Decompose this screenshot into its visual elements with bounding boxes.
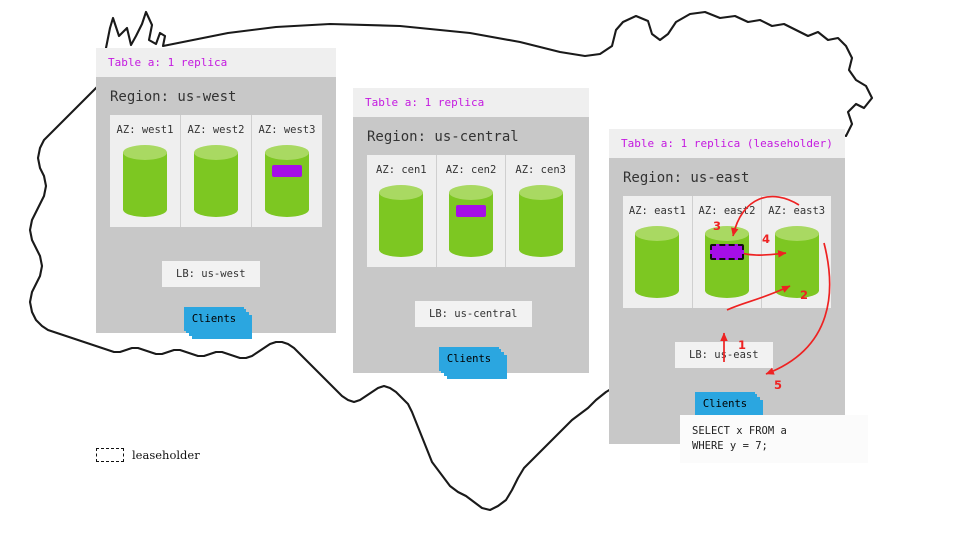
- clients-label: Clients: [184, 307, 244, 331]
- region-title-us-central: Table a: 1 replica: [353, 88, 589, 117]
- az-label: AZ: cen2: [446, 164, 497, 176]
- az-label: AZ: west1: [117, 124, 174, 136]
- node-cylinder-icon: [635, 226, 679, 298]
- az-label: AZ: east2: [699, 205, 756, 217]
- step-number-1: 1: [738, 338, 746, 352]
- node-cylinder-icon: [519, 185, 563, 257]
- load-balancer-us-central[interactable]: LB: us-central: [415, 301, 532, 327]
- node-cylinder-icon: [705, 226, 749, 298]
- node-cylinder-icon: [379, 185, 423, 257]
- clients-label: Clients: [695, 392, 755, 416]
- load-balancer-us-east[interactable]: LB: us-east: [675, 342, 773, 368]
- legend-label: leaseholder: [132, 448, 200, 462]
- az-label: AZ: east1: [629, 205, 686, 217]
- az-card-east1[interactable]: AZ: east1: [623, 196, 692, 308]
- replica-block-leaseholder: [710, 244, 744, 260]
- step-number-4: 4: [762, 232, 770, 246]
- step-number-3: 3: [713, 219, 721, 233]
- leaseholder-swatch-icon: [96, 448, 124, 462]
- legend: leaseholder: [96, 448, 200, 462]
- diagram-canvas: Table a: 1 replica Region: us-west AZ: w…: [0, 0, 960, 540]
- az-label: AZ: east3: [768, 205, 825, 217]
- az-row-us-west: AZ: west1 AZ: west2 AZ: west3: [110, 115, 322, 227]
- load-balancer-us-west[interactable]: LB: us-west: [162, 261, 260, 287]
- az-card-west2[interactable]: AZ: west2: [180, 115, 251, 227]
- step-number-5: 5: [774, 378, 782, 392]
- az-card-cen3[interactable]: AZ: cen3: [505, 155, 575, 267]
- az-label: AZ: cen3: [515, 164, 566, 176]
- node-cylinder-icon: [123, 145, 167, 217]
- region-name-us-east: Region: us-east: [609, 158, 845, 196]
- clients-label: Clients: [439, 347, 499, 371]
- step-number-2: 2: [800, 288, 808, 302]
- clients-stack-us-central[interactable]: Clients: [439, 347, 499, 371]
- az-label: AZ: west3: [259, 124, 316, 136]
- az-label: AZ: cen1: [376, 164, 427, 176]
- node-cylinder-icon: [265, 145, 309, 217]
- region-title-us-east: Table a: 1 replica (leaseholder): [609, 129, 845, 158]
- az-card-cen2[interactable]: AZ: cen2: [436, 155, 506, 267]
- az-card-cen1[interactable]: AZ: cen1: [367, 155, 436, 267]
- az-card-east3[interactable]: AZ: east3: [761, 196, 831, 308]
- clients-stack-us-east[interactable]: Clients: [695, 392, 755, 416]
- replica-block: [272, 165, 302, 177]
- region-name-us-central: Region: us-central: [353, 117, 589, 155]
- az-label: AZ: west2: [188, 124, 245, 136]
- region-panel-us-central: Table a: 1 replica Region: us-central AZ…: [353, 88, 589, 373]
- node-cylinder-icon: [194, 145, 238, 217]
- node-cylinder-icon: [449, 185, 493, 257]
- az-card-east2[interactable]: AZ: east2: [692, 196, 762, 308]
- node-cylinder-icon: [775, 226, 819, 298]
- az-card-west1[interactable]: AZ: west1: [110, 115, 180, 227]
- replica-block: [456, 205, 486, 217]
- region-name-us-west: Region: us-west: [96, 77, 336, 115]
- region-panel-us-west: Table a: 1 replica Region: us-west AZ: w…: [96, 48, 336, 333]
- region-title-us-west: Table a: 1 replica: [96, 48, 336, 77]
- sql-query-box: SELECT x FROM a WHERE y = 7;: [680, 415, 868, 463]
- az-row-us-central: AZ: cen1 AZ: cen2 AZ: cen3: [367, 155, 575, 267]
- region-panel-us-east: Table a: 1 replica (leaseholder) Region:…: [609, 129, 845, 444]
- clients-stack-us-west[interactable]: Clients: [184, 307, 244, 331]
- az-card-west3[interactable]: AZ: west3: [251, 115, 322, 227]
